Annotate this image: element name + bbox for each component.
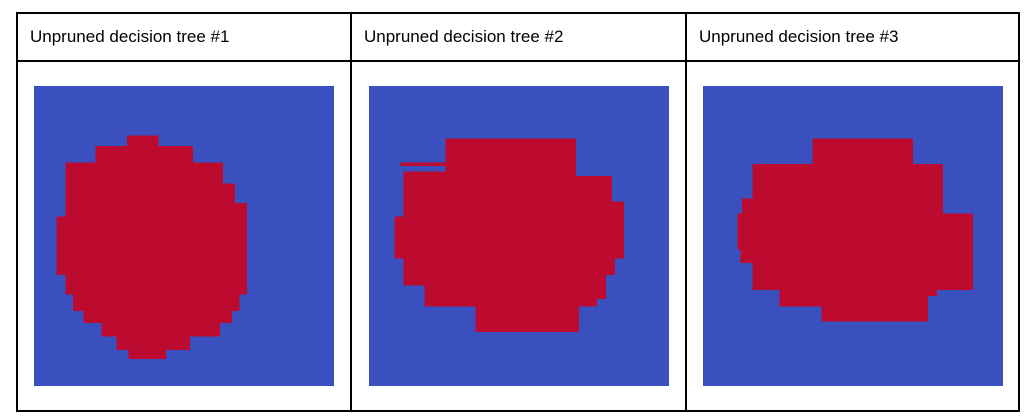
decision-region-red bbox=[779, 290, 937, 296]
decision-region-red bbox=[821, 307, 928, 322]
decision-region-red bbox=[475, 307, 579, 333]
decision-region-red bbox=[752, 164, 943, 199]
decision-region-red bbox=[66, 275, 248, 295]
header-cell-tree-2: Unpruned decision tree #2 bbox=[351, 13, 686, 61]
decision-region-red bbox=[129, 350, 167, 359]
decision-region-canvas bbox=[369, 86, 669, 386]
decision-tree-table: Unpruned decision tree #1 Unpruned decis… bbox=[16, 12, 1020, 412]
decision-boundary-plot-tree-3 bbox=[703, 86, 1003, 386]
table-header-row: Unpruned decision tree #1 Unpruned decis… bbox=[17, 13, 1019, 61]
decision-region-red bbox=[737, 214, 973, 250]
decision-boundary-plot-tree-2 bbox=[369, 86, 669, 386]
table-body-row bbox=[17, 61, 1019, 411]
decision-region-red bbox=[812, 139, 913, 165]
decision-boundary-plot-tree-1 bbox=[34, 86, 334, 386]
decision-tree-figure: Unpruned decision tree #1 Unpruned decis… bbox=[16, 12, 1012, 406]
decision-region-red bbox=[57, 238, 248, 276]
decision-region-red bbox=[403, 259, 615, 276]
decision-region-red bbox=[445, 146, 576, 164]
decision-region-red bbox=[403, 172, 576, 177]
plot-cell-tree-1 bbox=[17, 61, 351, 411]
decision-region-red bbox=[403, 176, 612, 199]
decision-region-red bbox=[96, 146, 194, 163]
decision-region-red bbox=[400, 163, 445, 167]
decision-region-red bbox=[117, 337, 191, 351]
plot-cell-tree-2 bbox=[351, 61, 686, 411]
decision-region-canvas bbox=[34, 86, 334, 386]
decision-region-red bbox=[73, 295, 240, 312]
header-cell-tree-1: Unpruned decision tree #1 bbox=[17, 13, 351, 61]
decision-region-red bbox=[403, 275, 606, 286]
decision-region-red bbox=[752, 263, 973, 290]
decision-region-red bbox=[403, 202, 624, 217]
decision-region-red bbox=[403, 199, 612, 202]
decision-region-red bbox=[779, 296, 928, 307]
decision-region-red bbox=[424, 299, 597, 307]
column-title-tree-2: Unpruned decision tree #2 bbox=[364, 27, 563, 47]
decision-region-red bbox=[66, 163, 224, 184]
decision-region-canvas bbox=[703, 86, 1003, 386]
decision-region-red bbox=[445, 139, 576, 147]
decision-region-red bbox=[66, 203, 248, 217]
decision-region-red bbox=[66, 184, 236, 204]
decision-region-red bbox=[740, 250, 973, 264]
decision-region-red bbox=[424, 286, 606, 300]
decision-region-red bbox=[127, 136, 159, 147]
decision-region-red bbox=[394, 250, 624, 259]
plot-cell-tree-3 bbox=[686, 61, 1019, 411]
decision-region-red bbox=[84, 311, 233, 323]
header-cell-tree-3: Unpruned decision tree #3 bbox=[686, 13, 1019, 61]
decision-region-red bbox=[445, 164, 576, 172]
column-title-tree-3: Unpruned decision tree #3 bbox=[699, 27, 898, 47]
decision-region-red bbox=[742, 199, 943, 214]
decision-region-red bbox=[102, 323, 221, 337]
decision-region-red bbox=[394, 217, 624, 250]
decision-region-red bbox=[57, 217, 248, 238]
column-title-tree-1: Unpruned decision tree #1 bbox=[30, 27, 229, 47]
